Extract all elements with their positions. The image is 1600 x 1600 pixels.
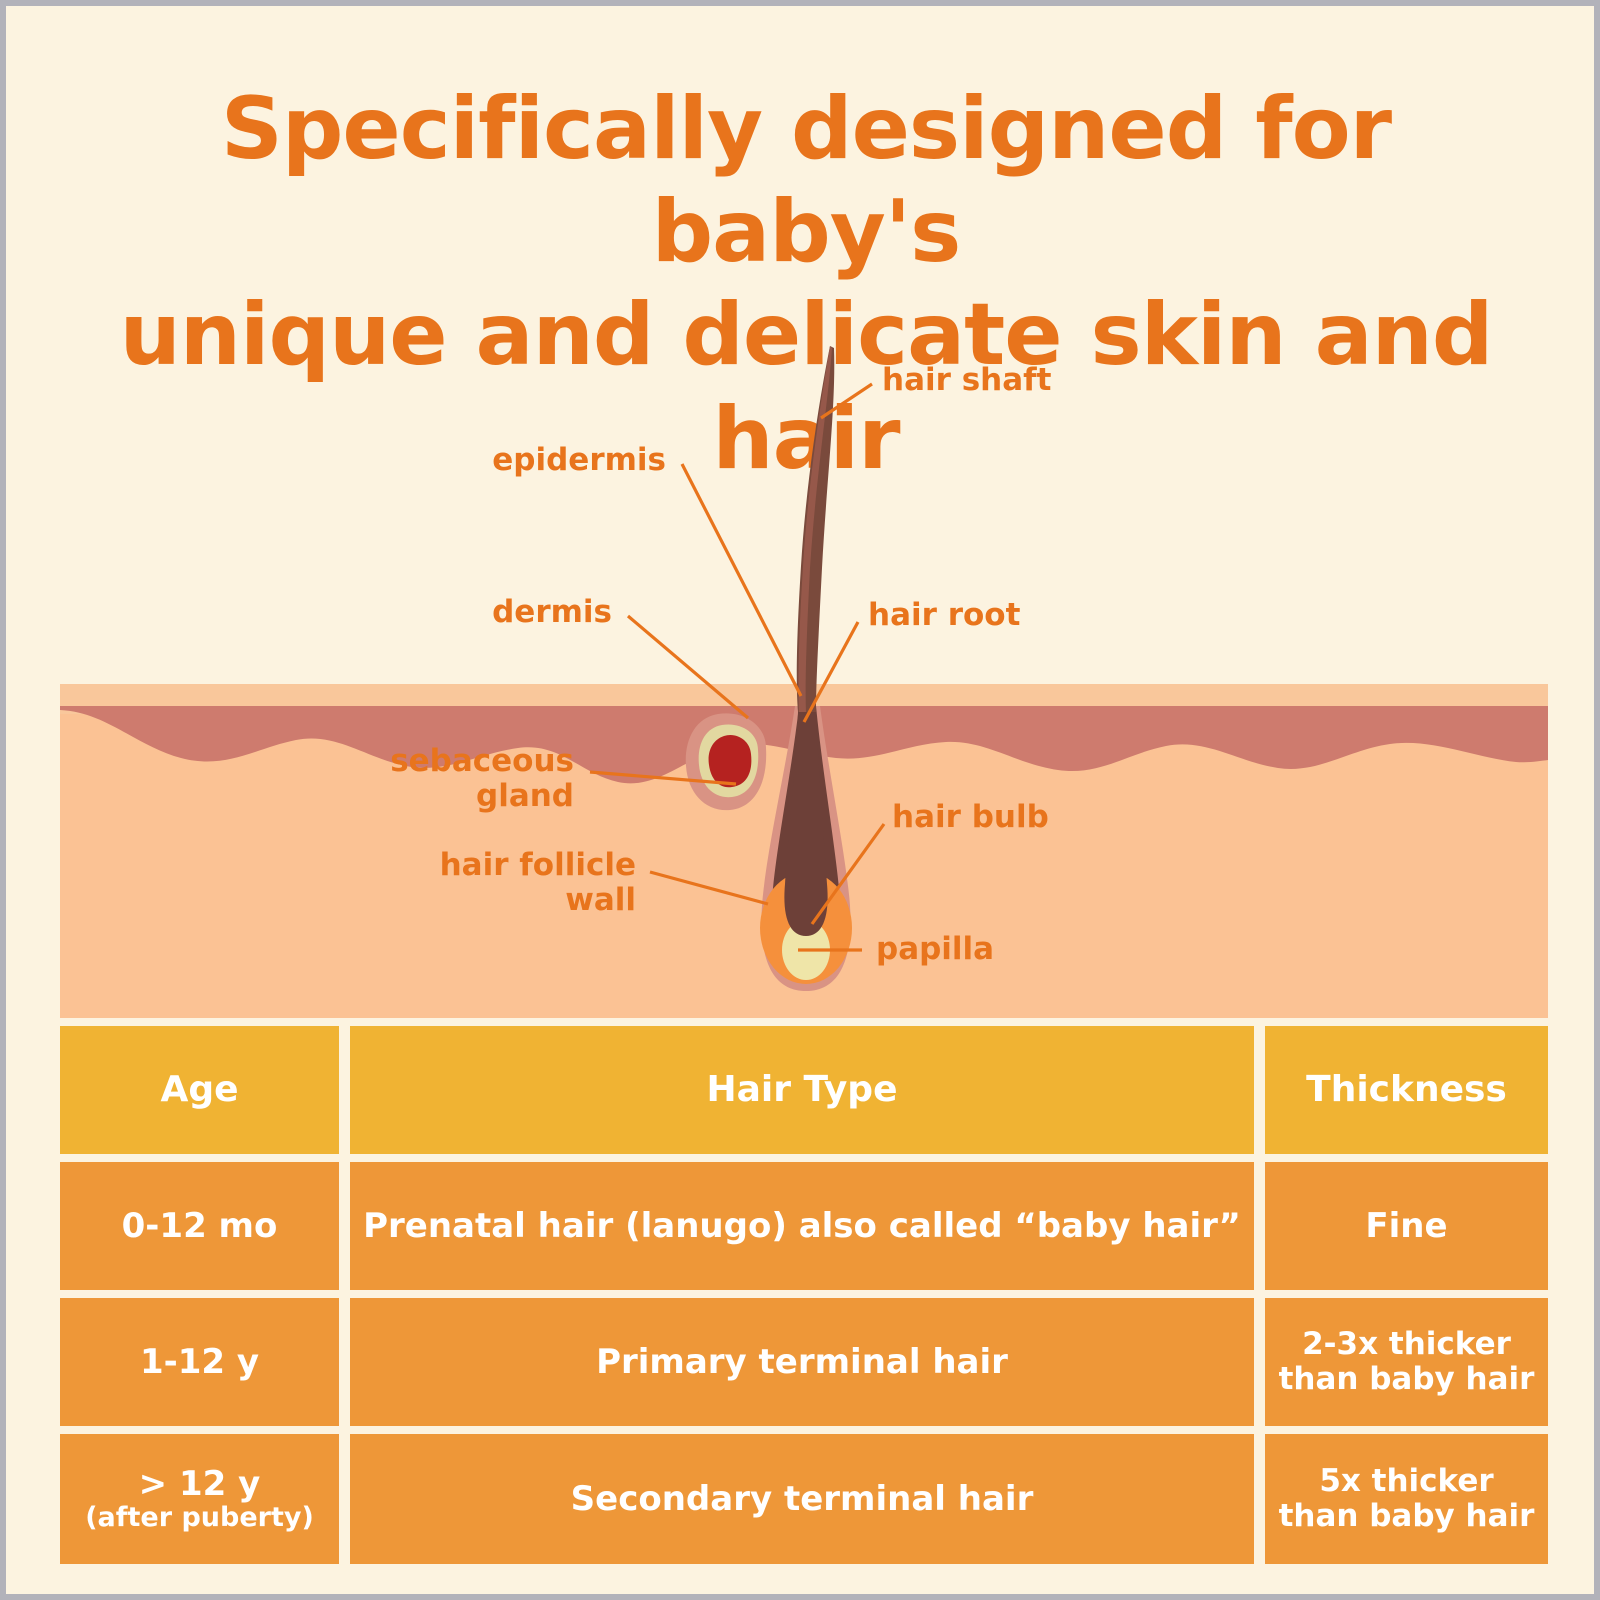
page-title: Specifically designed for baby's unique …: [66, 78, 1546, 491]
table-header-row: Age Hair Type Thickness: [60, 1026, 1548, 1154]
label-dermis: dermis: [266, 595, 612, 630]
cell-age-main: > 12 y: [139, 1464, 261, 1504]
cell-thickness-line2: than baby hair: [1279, 1498, 1535, 1534]
sebaceous-gland-core: [709, 735, 752, 787]
label-hair-root: hair root: [868, 598, 1020, 633]
cell-thickness-line1: 2-3x thicker: [1302, 1326, 1511, 1362]
header-thickness: Thickness: [1265, 1026, 1548, 1154]
label-hair-shaft: hair shaft: [882, 363, 1051, 398]
table-row: 1-12 y Primary terminal hair 2-3x thicke…: [60, 1298, 1548, 1426]
hair-root-shape: [784, 712, 827, 936]
cell-thickness-line1: 5x thicker: [1319, 1463, 1493, 1499]
leader-sebaceous-gland: [590, 772, 736, 784]
infographic-poster: Specifically designed for baby's unique …: [0, 0, 1600, 1600]
sebaceous-gland-ring: [699, 724, 759, 797]
cell-age-note: (after puberty): [85, 1503, 314, 1533]
cell-thickness: 5x thicker than baby hair: [1265, 1434, 1548, 1564]
follicle-inner-shape: [771, 706, 841, 978]
cell-age: > 12 y (after puberty): [60, 1434, 339, 1564]
cell-hair-type: Primary terminal hair: [350, 1298, 1254, 1426]
hair-follicle-wall-shape: [761, 706, 850, 991]
cell-thickness: Fine: [1265, 1162, 1548, 1290]
leader-hair-root: [804, 622, 858, 722]
leader-hair-bulb: [812, 824, 884, 924]
label-epidermis: epidermis: [306, 443, 666, 478]
papilla-shape: [782, 920, 830, 980]
title-line-2: unique and delicate skin and hair: [66, 284, 1546, 490]
leader-follicle-wall: [650, 872, 768, 904]
sebaceous-gland-outer: [686, 713, 766, 810]
label-papilla: papilla: [876, 932, 994, 967]
table-row: 0-12 mo Prenatal hair (lanugo) also call…: [60, 1162, 1548, 1290]
title-line-1: Specifically designed for baby's: [66, 78, 1546, 284]
hair-bulb-shape: [760, 872, 852, 984]
cell-thickness-line2: than baby hair: [1279, 1361, 1535, 1397]
cell-thickness: 2-3x thicker than baby hair: [1265, 1298, 1548, 1426]
cell-age: 1-12 y: [60, 1298, 339, 1426]
header-age: Age: [60, 1026, 339, 1154]
cell-hair-type: Prenatal hair (lanugo) also called “baby…: [350, 1162, 1254, 1290]
label-hair-follicle-wall: hair follicle wall: [246, 848, 636, 917]
label-hair-bulb: hair bulb: [892, 800, 1049, 835]
leader-dermis: [628, 616, 748, 718]
cell-hair-type: Secondary terminal hair: [350, 1434, 1254, 1564]
hair-type-table: Age Hair Type Thickness 0-12 mo Prenatal…: [60, 1026, 1548, 1572]
table-row: > 12 y (after puberty) Secondary termina…: [60, 1434, 1548, 1564]
cell-age: 0-12 mo: [60, 1162, 339, 1290]
header-hair-type: Hair Type: [350, 1026, 1254, 1154]
label-sebaceous-gland: sebaceous gland: [206, 744, 574, 813]
leader-epidermis: [682, 464, 801, 696]
